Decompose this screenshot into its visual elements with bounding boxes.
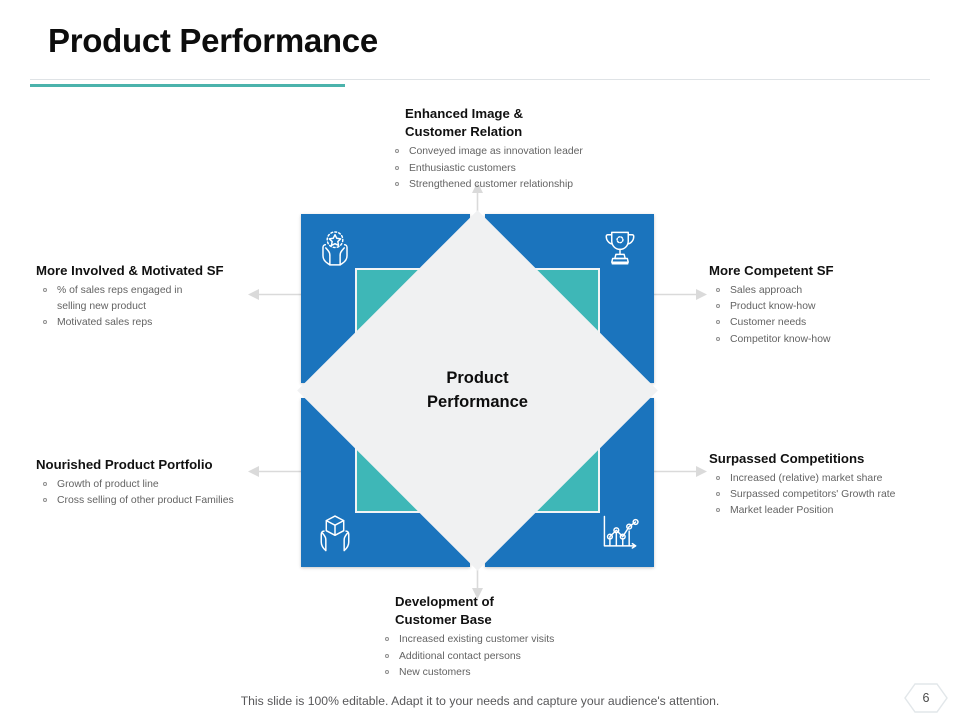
- bullet-dot-icon: [385, 637, 389, 641]
- page-title: Product Performance: [48, 22, 378, 60]
- bullet-dot-icon: [716, 304, 720, 308]
- callout-title: More Competent SF: [709, 262, 954, 280]
- callout-title: More Involved & Motivated SF: [36, 262, 286, 280]
- footer-note: This slide is 100% editable. Adapt it to…: [0, 694, 960, 708]
- callout-surpassed-competitions: Surpassed Competitions Increased (relati…: [709, 450, 959, 520]
- callout-bullet-list: Increased existing customer visits Addit…: [378, 632, 678, 680]
- callout-title-line1: More Competent SF: [709, 262, 954, 280]
- bullet-dot-icon: [385, 654, 389, 658]
- header-accent-bar: [30, 84, 345, 87]
- list-item: Additional contact persons: [378, 649, 678, 665]
- callout-title-line1: More Involved & Motivated SF: [36, 262, 286, 280]
- callout-title: Enhanced Image & Customer Relation: [388, 105, 688, 141]
- bullet-text: Competitor know-how: [730, 334, 830, 345]
- bullet-dot-icon: [395, 149, 399, 153]
- bullet-dot-icon: [716, 288, 720, 292]
- bullet-dot-icon: [43, 498, 47, 502]
- list-item: Enthusiastic customers: [388, 161, 688, 177]
- hands-holding-star-icon: [313, 226, 357, 270]
- bullet-dot-icon: [43, 482, 47, 486]
- bullet-dot-icon: [395, 166, 399, 170]
- bullet-text: Growth of product line: [57, 479, 159, 490]
- bullet-dot-icon: [716, 492, 720, 496]
- bullet-dot-icon: [395, 182, 399, 186]
- callout-bullet-list: Increased (relative) market share Surpas…: [709, 471, 959, 519]
- callout-more-involved-motivated-sf: More Involved & Motivated SF % of sales …: [36, 262, 286, 332]
- callout-bullet-list: % of sales reps engaged in selling new p…: [36, 283, 286, 331]
- bullet-text: New customers: [399, 667, 471, 678]
- bullet-dot-icon: [385, 670, 389, 674]
- list-item: Sales approach: [709, 283, 954, 299]
- list-item: Competitor know-how: [709, 332, 954, 348]
- bullet-dot-icon: [716, 508, 720, 512]
- bullet-text: Strengthened customer relationship: [409, 179, 573, 190]
- list-item: Increased (relative) market share: [709, 471, 959, 487]
- page-number-badge: 6: [904, 683, 948, 713]
- bullet-text: Conveyed image as innovation leader: [409, 146, 583, 157]
- callout-title-line1: Nourished Product Portfolio: [36, 456, 291, 474]
- callout-development-of-customer-base: Development of Customer Base Increased e…: [378, 593, 678, 681]
- callout-title-line2: Customer Base: [395, 611, 678, 629]
- callout-title-line1: Surpassed Competitions: [709, 450, 959, 468]
- bullet-dot-icon: [716, 476, 720, 480]
- callout-enhanced-image-customer-relation: Enhanced Image & Customer Relation Conve…: [388, 105, 688, 193]
- list-item: Market leader Position: [709, 503, 959, 519]
- bullet-text: Cross selling of other product Families: [57, 495, 234, 506]
- bullet-text: Customer needs: [730, 317, 806, 328]
- list-item: Strengthened customer relationship: [388, 177, 688, 193]
- line-chart-icon: [598, 511, 642, 555]
- header-divider: [30, 79, 930, 80]
- slide-canvas: Product Performance: [0, 0, 960, 720]
- callout-title-line1: Development of: [395, 593, 678, 611]
- list-item: Conveyed image as innovation leader: [388, 144, 688, 160]
- bullet-text: % of sales reps engaged in selling new p…: [57, 285, 182, 312]
- bullet-text: Surpassed competitors' Growth rate: [730, 489, 895, 500]
- bullet-text: Market leader Position: [730, 505, 833, 516]
- bullet-dot-icon: [43, 288, 47, 292]
- callout-bullet-list: Conveyed image as innovation leader Enth…: [388, 144, 688, 192]
- callout-bullet-list: Sales approach Product know-how Customer…: [709, 283, 954, 348]
- bullet-text: Increased (relative) market share: [730, 473, 882, 484]
- connector-arrow-right-lower: [653, 465, 707, 478]
- bullet-text: Sales approach: [730, 285, 802, 296]
- list-item: Growth of product line: [36, 477, 291, 493]
- bullet-text: Motivated sales reps: [57, 317, 152, 328]
- list-item: % of sales reps engaged in selling new p…: [36, 283, 286, 315]
- callout-bullet-list: Growth of product line Cross selling of …: [36, 477, 291, 509]
- callout-nourished-product-portfolio: Nourished Product Portfolio Growth of pr…: [36, 456, 291, 509]
- callout-title-line2: Customer Relation: [405, 123, 688, 141]
- list-item: Customer needs: [709, 315, 954, 331]
- list-item: Motivated sales reps: [36, 315, 286, 331]
- list-item: Product know-how: [709, 299, 954, 315]
- bullet-text: Enthusiastic customers: [409, 163, 516, 174]
- list-item: Increased existing customer visits: [378, 632, 678, 648]
- bullet-text: Increased existing customer visits: [399, 634, 554, 645]
- list-item: Surpassed competitors' Growth rate: [709, 487, 959, 503]
- bullet-dot-icon: [716, 337, 720, 341]
- list-item: New customers: [378, 665, 678, 681]
- callout-more-competent-sf: More Competent SF Sales approach Product…: [709, 262, 954, 348]
- connector-arrow-right-upper: [653, 288, 707, 301]
- bullet-dot-icon: [716, 320, 720, 324]
- callout-title-line1: Enhanced Image &: [405, 105, 688, 123]
- callout-title: Nourished Product Portfolio: [36, 456, 291, 474]
- callout-title: Surpassed Competitions: [709, 450, 959, 468]
- hands-holding-box-icon: [313, 511, 357, 555]
- list-item: Cross selling of other product Families: [36, 493, 291, 509]
- bullet-dot-icon: [43, 320, 47, 324]
- trophy-icon: [598, 226, 642, 270]
- product-performance-diagram: Product Performance: [301, 214, 654, 567]
- callout-title: Development of Customer Base: [378, 593, 678, 629]
- bullet-text: Product know-how: [730, 301, 815, 312]
- page-number: 6: [904, 683, 948, 713]
- bullet-text: Additional contact persons: [399, 651, 521, 662]
